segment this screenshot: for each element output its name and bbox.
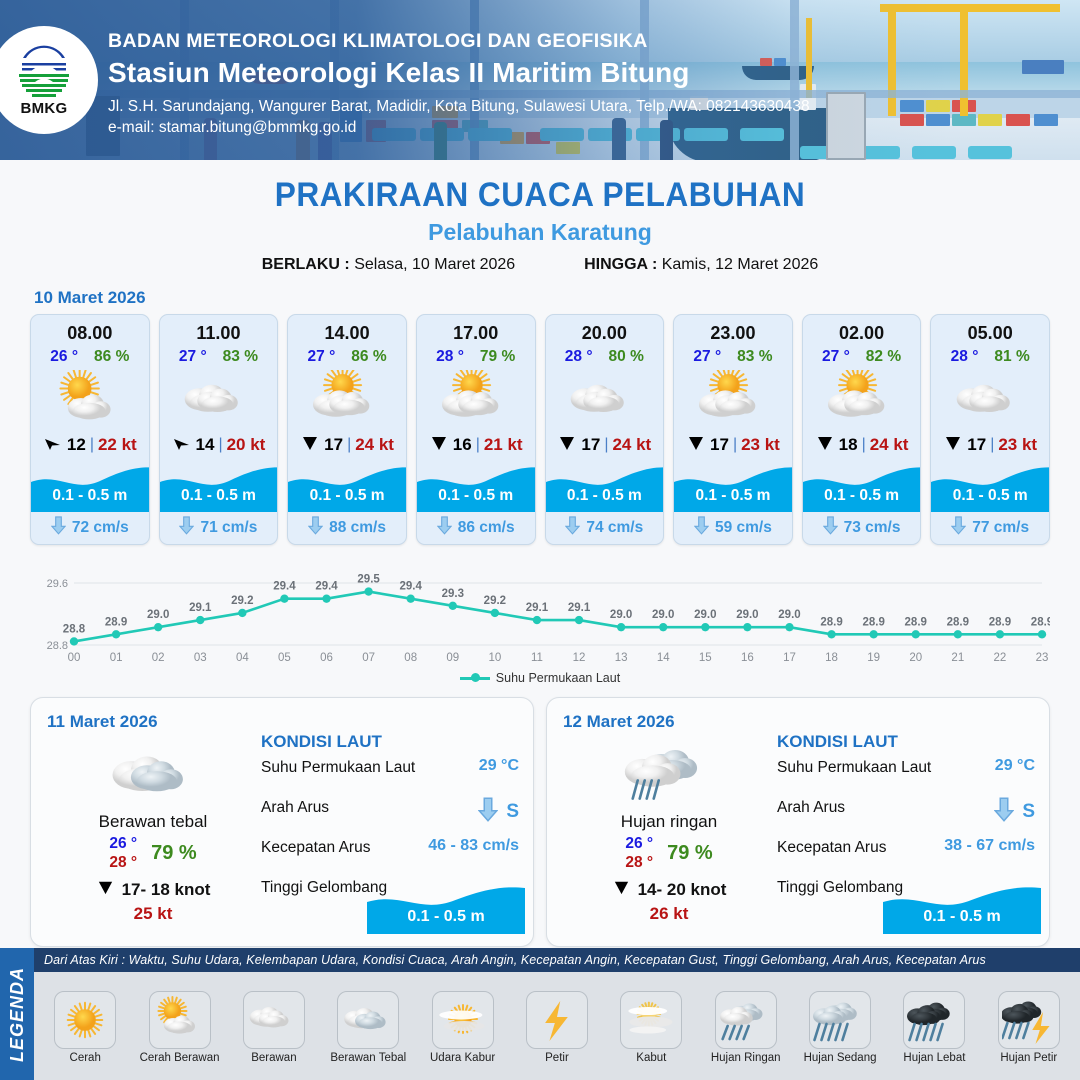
current-direction-arrow-icon (437, 516, 452, 540)
svg-text:29.0: 29.0 (736, 609, 758, 621)
station-address: Jl. S.H. Sarundajang, Wangurer Barat, Ma… (108, 98, 810, 116)
validity-row: BERLAKU : Selasa, 10 Maret 2026 HINGGA :… (0, 256, 1080, 274)
svg-text:29.4: 29.4 (400, 581, 423, 593)
svg-text:12: 12 (573, 652, 586, 664)
card-time: 11.00 (160, 315, 278, 344)
card-humidity: 86 % (351, 348, 386, 366)
card-wind-separator: | (990, 436, 994, 454)
card-current-speed: 73 cm/s (844, 519, 901, 537)
svg-text:09: 09 (446, 652, 459, 664)
valid-until-label: HINGGA : (584, 256, 657, 273)
legend-item-label: Hujan Lebat (903, 1052, 965, 1064)
sea-condition-row: Kecepatan Arus 38 - 67 cm/s (777, 837, 1035, 877)
svg-text:28.9: 28.9 (947, 616, 969, 628)
card-gust: 24 kt (355, 435, 394, 455)
weather-hujan-petir-icon (998, 991, 1060, 1049)
svg-text:29.4: 29.4 (273, 581, 296, 593)
page-title: PRAKIRAAN CUACA PELABUHAN (38, 176, 1042, 215)
weather-hujan-ringan-icon (715, 991, 777, 1049)
daily-wave-height: 0.1 - 0.5 m (883, 908, 1041, 926)
card-wave-height: 0.1 - 0.5 m (931, 487, 1049, 505)
current-direction-arrow-icon (823, 516, 838, 540)
current-direction-arrow-icon (308, 516, 323, 540)
card-time: 23.00 (674, 315, 792, 344)
daily-wave-block: 0.1 - 0.5 m (883, 882, 1041, 934)
daily-panel: 11 Maret 2026 Berawan tebal 26 ° 28 ° 79 (30, 697, 534, 947)
svg-text:16: 16 (741, 652, 754, 664)
card-wind-separator: | (90, 436, 94, 454)
svg-text:29.1: 29.1 (526, 602, 549, 614)
card-wind-speed: 17 (710, 435, 729, 455)
svg-text:29.1: 29.1 (568, 602, 591, 614)
card-gust: 24 kt (870, 435, 909, 455)
card-time: 14.00 (288, 315, 406, 344)
sea-condition-row: Suhu Permukaan Laut 29 °C (777, 757, 1035, 797)
sea-row-label: Kecepatan Arus (777, 837, 944, 857)
card-wave-height: 0.1 - 0.5 m (546, 487, 664, 505)
legend-note: Dari Atas Kiri : Waktu, Suhu Udara, Kele… (34, 948, 1080, 972)
sea-row-label: Suhu Permukaan Laut (261, 757, 479, 777)
card-gust: 23 kt (741, 435, 780, 455)
svg-text:28.9: 28.9 (905, 616, 927, 628)
legend-item: Hujan Lebat (889, 991, 979, 1064)
svg-text:21: 21 (951, 652, 964, 664)
card-gust: 20 kt (227, 435, 266, 455)
card-wave-block: 0.1 - 0.5 m (31, 460, 149, 512)
svg-text:29.2: 29.2 (231, 595, 253, 607)
weather-cerah-berawan-icon (149, 991, 211, 1049)
card-wave-height: 0.1 - 0.5 m (674, 487, 792, 505)
svg-text:19: 19 (867, 652, 880, 664)
daily-wave-height: 0.1 - 0.5 m (367, 908, 525, 926)
weather-cerah-icon (54, 991, 116, 1049)
sea-condition-row: Suhu Permukaan Laut 29 °C (261, 757, 519, 797)
sst-chart: 29.628.828.80028.90129.00229.10329.20429… (30, 561, 1050, 669)
daily-humidity: 79 % (667, 842, 713, 865)
svg-text:08: 08 (404, 652, 417, 664)
legend-item: Udara Kabur (417, 991, 507, 1064)
chart-legend-label: Suhu Permukaan Laut (496, 671, 620, 685)
weather-berawan-icon (546, 368, 664, 430)
legend-item-label: Cerah (70, 1052, 101, 1064)
weather-cerah-berawan-2-icon (417, 368, 535, 430)
sea-row-value: 46 - 83 cm/s (428, 837, 519, 855)
card-time: 05.00 (931, 315, 1049, 344)
card-humidity: 86 % (94, 348, 129, 366)
daily-wave-block: 0.1 - 0.5 m (367, 882, 525, 934)
svg-text:06: 06 (320, 652, 333, 664)
hourly-card: 05.00 28 ° 81 % 17 | 23 kt (930, 314, 1050, 545)
card-wave-block: 0.1 - 0.5 m (803, 460, 921, 512)
wind-direction-arrow-icon (686, 433, 706, 458)
svg-text:02: 02 (152, 652, 165, 664)
card-temperature: 27 ° (179, 348, 207, 366)
svg-text:11: 11 (531, 652, 543, 664)
svg-text:03: 03 (194, 652, 207, 664)
card-current-speed: 72 cm/s (72, 519, 129, 537)
chart-legend: Suhu Permukaan Laut (0, 671, 1080, 685)
daily-gust: 26 kt (569, 904, 769, 924)
valid-until-value: Kamis, 12 Maret 2026 (662, 256, 819, 273)
svg-text:29.1: 29.1 (189, 602, 212, 614)
svg-text:29.5: 29.5 (357, 574, 380, 586)
weather-hujan-lebat-icon (903, 991, 965, 1049)
legend-items: Cerah Cerah Berawan Ber (34, 972, 1080, 1080)
card-current-speed: 88 cm/s (329, 519, 386, 537)
hourly-card: 20.00 28 ° 80 % 17 | 24 kt (545, 314, 665, 545)
sea-row-label: Arah Arus (261, 797, 478, 817)
legend-item-label: Udara Kabur (430, 1052, 495, 1064)
card-humidity: 81 % (994, 348, 1029, 366)
card-wind-speed: 16 (453, 435, 472, 455)
daily-date: 12 Maret 2026 (563, 712, 1033, 732)
legend-section: LEGENDA Dari Atas Kiri : Waktu, Suhu Uda… (0, 948, 1080, 1080)
legend-item: Cerah (40, 991, 130, 1064)
hourly-card: 14.00 27 ° 86 % 17 | 24 kt (287, 314, 407, 545)
svg-text:29.2: 29.2 (484, 595, 506, 607)
svg-text:00: 00 (68, 652, 81, 664)
daily-condition: Berawan tebal (53, 812, 253, 832)
current-direction-arrow-icon (179, 516, 194, 540)
sea-condition-row: Arah Arus S (261, 797, 519, 837)
daily-gust: 25 kt (53, 904, 253, 924)
svg-text:10: 10 (488, 652, 501, 664)
card-current-speed: 86 cm/s (458, 519, 515, 537)
card-temperature: 28 ° (565, 348, 593, 366)
card-gust: 21 kt (484, 435, 523, 455)
hourly-forecast-cards: 08.00 26 ° 86 % 12 | 22 kt 0.1 - 0.5 m (0, 314, 1080, 545)
card-wind-speed: 14 (196, 435, 215, 455)
weather-cerah-berawan-2-icon (288, 368, 406, 430)
daily-summary-left: Berawan tebal 26 ° 28 ° 79 % 17- 18 knot… (53, 736, 253, 924)
legend-item-label: Berawan (251, 1052, 296, 1064)
daily-date: 11 Maret 2026 (47, 712, 517, 732)
sea-row-label: Suhu Permukaan Laut (777, 757, 995, 777)
card-current-speed: 74 cm/s (586, 519, 643, 537)
legend-item: Petir (512, 991, 602, 1064)
card-wave-block: 0.1 - 0.5 m (674, 460, 792, 512)
card-wind-speed: 17 (581, 435, 600, 455)
page-subtitle: Pelabuhan Karatung (0, 219, 1080, 246)
current-direction-arrow-icon (951, 516, 966, 540)
card-temperature: 27 ° (693, 348, 721, 366)
weather-cerah-berawan-2-icon (674, 368, 792, 430)
weather-kabut-icon (620, 991, 682, 1049)
card-temperature: 26 ° (50, 348, 78, 366)
hourly-card: 23.00 27 ° 83 % 17 | 23 kt (673, 314, 793, 545)
legend-item-label: Kabut (636, 1052, 666, 1064)
sea-condition-row: Arah Arus S (777, 797, 1035, 837)
card-wave-block: 0.1 - 0.5 m (417, 460, 535, 512)
card-temperature: 27 ° (308, 348, 336, 366)
svg-text:22: 22 (994, 652, 1007, 664)
sea-row-value: S (1022, 801, 1035, 823)
legend-item-label: Petir (545, 1052, 569, 1064)
card-wind-speed: 17 (967, 435, 986, 455)
daily-temp-max: 28 ° (109, 854, 137, 872)
station-email: e-mail: stamar.bitung@bmmkg.go.id (108, 119, 810, 137)
svg-text:29.0: 29.0 (778, 609, 800, 621)
valid-from-value: Selasa, 10 Maret 2026 (354, 256, 515, 273)
legend-item: Berawan Tebal (323, 991, 413, 1064)
weather-berawan-icon (243, 991, 305, 1049)
card-wind-separator: | (218, 436, 222, 454)
current-direction-arrow-icon (51, 516, 66, 540)
svg-text:29.0: 29.0 (610, 609, 632, 621)
svg-text:29.6: 29.6 (47, 578, 68, 590)
wind-direction-arrow-icon (300, 433, 320, 458)
svg-text:29.0: 29.0 (147, 609, 169, 621)
daily-panel: 12 Maret 2026 Hujan ringan 26 ° 28 ° 79 (546, 697, 1050, 947)
legend-item: Hujan Ringan (701, 991, 791, 1064)
svg-text:29.0: 29.0 (694, 609, 716, 621)
card-wave-height: 0.1 - 0.5 m (417, 487, 535, 505)
svg-text:17: 17 (783, 652, 796, 664)
card-current-speed: 77 cm/s (972, 519, 1029, 537)
weather-berawan-icon (160, 368, 278, 430)
svg-text:28.9: 28.9 (1031, 616, 1050, 628)
svg-text:29.0: 29.0 (652, 609, 674, 621)
wind-direction-arrow-icon (943, 433, 963, 458)
wind-direction-arrow-icon (815, 433, 835, 458)
wind-direction-arrow-icon (557, 433, 577, 458)
current-direction-arrow-icon (478, 797, 498, 827)
legend-item-label: Cerah Berawan (140, 1052, 220, 1064)
svg-text:05: 05 (278, 652, 291, 664)
legend-item-label: Hujan Ringan (711, 1052, 781, 1064)
card-time: 08.00 (31, 315, 149, 344)
daily-forecast-panels: 11 Maret 2026 Berawan tebal 26 ° 28 ° 79 (0, 697, 1080, 947)
weather-hujan-sedang-icon (809, 991, 871, 1049)
weather-berawan-icon (931, 368, 1049, 430)
card-gust: 22 kt (98, 435, 137, 455)
card-current-speed: 71 cm/s (200, 519, 257, 537)
card-humidity: 83 % (737, 348, 772, 366)
svg-text:07: 07 (362, 652, 375, 664)
station-name: Stasiun Meteorologi Kelas II Maritim Bit… (108, 57, 810, 89)
card-wind-separator: | (604, 436, 608, 454)
card-temperature: 28 ° (951, 348, 979, 366)
daily-wind: 14- 20 knot (638, 880, 727, 900)
current-direction-arrow-icon (994, 797, 1014, 827)
svg-text:18: 18 (825, 652, 838, 664)
daily-temp-min: 26 ° (109, 835, 137, 853)
card-wave-height: 0.1 - 0.5 m (31, 487, 149, 505)
svg-text:14: 14 (657, 652, 670, 664)
card-current-speed: 59 cm/s (715, 519, 772, 537)
svg-text:28.8: 28.8 (47, 640, 68, 652)
wind-direction-arrow-icon (172, 433, 192, 458)
hourly-card: 17.00 28 ° 79 % 16 | 21 kt (416, 314, 536, 545)
card-wind-separator: | (347, 436, 351, 454)
weather-udara-kabur-icon (432, 991, 494, 1049)
wind-direction-arrow-icon (612, 878, 631, 902)
svg-text:28.9: 28.9 (820, 616, 842, 628)
sea-row-value: 38 - 67 cm/s (944, 837, 1035, 855)
chart-legend-marker (460, 677, 490, 680)
card-wind-separator: | (476, 436, 480, 454)
daily-condition: Hujan ringan (569, 812, 769, 832)
daily-wind: 17- 18 knot (122, 880, 211, 900)
svg-text:29.3: 29.3 (442, 588, 464, 600)
wind-direction-arrow-icon (96, 878, 115, 902)
legend-item-label: Hujan Sedang (804, 1052, 877, 1064)
card-temperature: 27 ° (822, 348, 850, 366)
card-gust: 23 kt (998, 435, 1037, 455)
card-humidity: 79 % (480, 348, 515, 366)
legend-item: Kabut (606, 991, 696, 1064)
svg-text:13: 13 (615, 652, 628, 664)
card-wave-height: 0.1 - 0.5 m (160, 487, 278, 505)
current-direction-arrow-icon (565, 516, 580, 540)
hourly-date: 10 Maret 2026 (34, 288, 1080, 308)
sea-conditions-title: KONDISI LAUT (777, 732, 1035, 752)
sea-row-value: 29 °C (995, 757, 1035, 775)
card-wave-block: 0.1 - 0.5 m (931, 460, 1049, 512)
legend-item: Cerah Berawan (134, 991, 224, 1064)
svg-text:20: 20 (909, 652, 922, 664)
legend-side-label: LEGENDA (0, 948, 34, 1080)
legend-item-label: Hujan Petir (1000, 1052, 1057, 1064)
hourly-card: 08.00 26 ° 86 % 12 | 22 kt 0.1 - 0.5 m (30, 314, 150, 545)
weather-berawan-tebal-icon (53, 736, 253, 808)
sea-condition-row: Kecepatan Arus 46 - 83 cm/s (261, 837, 519, 877)
svg-text:04: 04 (236, 652, 249, 664)
current-direction-arrow-icon (694, 516, 709, 540)
card-wind-separator: | (862, 436, 866, 454)
svg-text:15: 15 (699, 652, 712, 664)
card-humidity: 82 % (866, 348, 901, 366)
card-wind-speed: 18 (839, 435, 858, 455)
weather-cerah-berawan-icon (31, 368, 149, 430)
page-header: BMKG BADAN METEOROLOGI KLIMATOLOGI DAN G… (0, 0, 1080, 160)
sea-row-label: Kecepatan Arus (261, 837, 428, 857)
svg-text:28.9: 28.9 (862, 616, 884, 628)
legend-item: Berawan (229, 991, 319, 1064)
organization-name: BADAN METEOROLOGI KLIMATOLOGI DAN GEOFIS… (108, 30, 810, 53)
daily-temp-min: 26 ° (625, 835, 653, 853)
svg-text:28.9: 28.9 (105, 616, 127, 628)
card-wave-height: 0.1 - 0.5 m (803, 487, 921, 505)
daily-summary-left: Hujan ringan 26 ° 28 ° 79 % 14- 20 knot … (569, 736, 769, 924)
svg-text:28.9: 28.9 (989, 616, 1011, 628)
legend-item-label: Berawan Tebal (330, 1052, 406, 1064)
svg-text:28.8: 28.8 (63, 623, 86, 635)
card-humidity: 80 % (609, 348, 644, 366)
weather-petir-icon (526, 991, 588, 1049)
card-wind-separator: | (733, 436, 737, 454)
weather-hujan-ringan-icon (569, 736, 769, 808)
svg-text:23: 23 (1036, 652, 1049, 664)
header-text-block: BADAN METEOROLOGI KLIMATOLOGI DAN GEOFIS… (108, 30, 810, 137)
card-gust: 24 kt (612, 435, 651, 455)
card-time: 20.00 (546, 315, 664, 344)
card-wave-block: 0.1 - 0.5 m (160, 460, 278, 512)
daily-temp-max: 28 ° (625, 854, 653, 872)
card-time: 02.00 (803, 315, 921, 344)
sea-row-label: Arah Arus (777, 797, 994, 817)
weather-berawan-tebal-icon (337, 991, 399, 1049)
daily-humidity: 79 % (151, 842, 197, 865)
card-time: 17.00 (417, 315, 535, 344)
hourly-card: 02.00 27 ° 82 % 18 | 24 kt (802, 314, 922, 545)
wind-direction-arrow-icon (43, 433, 63, 458)
card-temperature: 28 ° (436, 348, 464, 366)
legend-item: Hujan Sedang (795, 991, 885, 1064)
card-wave-block: 0.1 - 0.5 m (288, 460, 406, 512)
card-wave-height: 0.1 - 0.5 m (288, 487, 406, 505)
card-humidity: 83 % (223, 348, 258, 366)
card-wind-speed: 17 (324, 435, 343, 455)
legend-item: Hujan Petir (984, 991, 1074, 1064)
card-wind-speed: 12 (67, 435, 86, 455)
valid-from-label: BERLAKU : (262, 256, 350, 273)
sea-row-value: 29 °C (479, 757, 519, 775)
svg-text:29.4: 29.4 (315, 581, 338, 593)
sea-row-value: S (506, 801, 519, 823)
hourly-card: 11.00 27 ° 83 % 14 | 20 kt (159, 314, 279, 545)
bmkg-logo-mark (13, 44, 75, 106)
svg-text:01: 01 (110, 652, 123, 664)
card-wave-block: 0.1 - 0.5 m (546, 460, 664, 512)
title-block: PRAKIRAAN CUACA PELABUHAN Pelabuhan Kara… (0, 176, 1080, 274)
sea-conditions-title: KONDISI LAUT (261, 732, 519, 752)
wind-direction-arrow-icon (429, 433, 449, 458)
weather-cerah-berawan-2-icon (803, 368, 921, 430)
